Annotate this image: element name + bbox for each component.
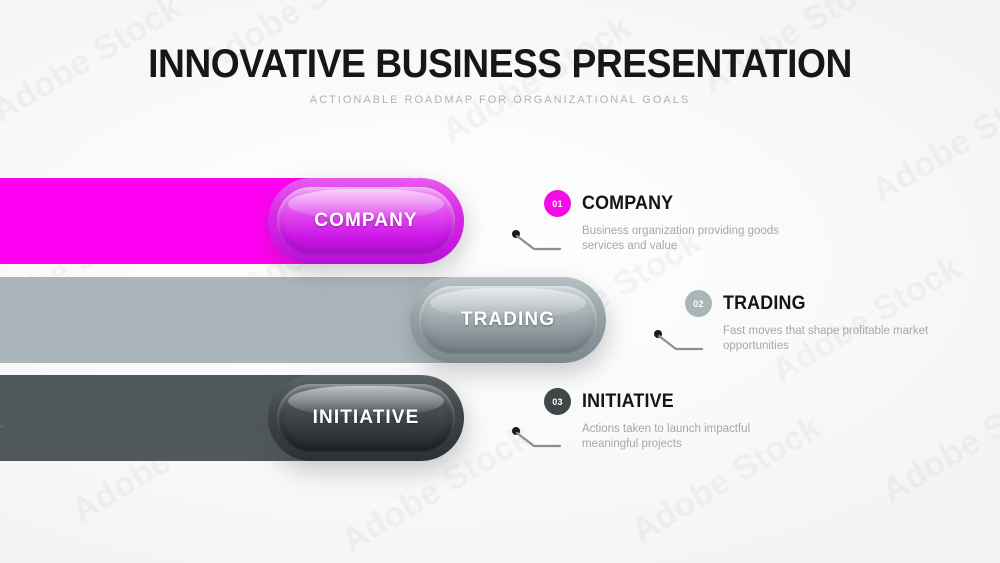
info-head-2: 02 TRADING	[685, 290, 933, 317]
info-block-company: 01 COMPANY Business organization providi…	[544, 190, 792, 254]
pill-button-initiative[interactable]: INITIATIVE	[268, 375, 464, 461]
info-title-initiative: INITIATIVE	[582, 391, 674, 413]
roadmap-row-1: COMPANY	[0, 178, 1000, 264]
page-subtitle: ACTIONABLE ROADMAP FOR ORGANIZATIONAL GO…	[0, 94, 1000, 106]
info-block-trading: 02 TRADING Fast moves that shape profita…	[685, 290, 933, 354]
infographic-canvas: Adobe Stock Adobe Stock Adobe Stock Adob…	[0, 0, 1000, 563]
info-desc-company: Business organization providing goods se…	[582, 224, 792, 254]
pill-button-company[interactable]: COMPANY	[268, 178, 464, 264]
pill-label-trading: TRADING	[461, 309, 555, 331]
info-desc-trading: Fast moves that shape profitable market …	[723, 324, 933, 354]
roadmap-row-3: INITIATIVE	[0, 375, 1000, 461]
info-head-3: 03 INITIATIVE	[544, 388, 792, 415]
info-title-company: COMPANY	[582, 193, 673, 215]
pill-label-initiative: INITIATIVE	[313, 407, 420, 429]
stock-watermark-label: Adobe Stock | #1942610187	[0, 300, 6, 553]
header: INNOVATIVE BUSINESS PRESENTATION ACTIONA…	[0, 42, 1000, 106]
info-title-trading: TRADING	[723, 293, 806, 315]
badge-number-01: 01	[544, 190, 571, 217]
page-title: INNOVATIVE BUSINESS PRESENTATION	[35, 42, 965, 86]
badge-number-03: 03	[544, 388, 571, 415]
info-block-initiative: 03 INITIATIVE Actions taken to launch im…	[544, 388, 792, 452]
info-desc-initiative: Actions taken to launch impactful meanin…	[582, 422, 792, 452]
badge-number-02: 02	[685, 290, 712, 317]
pill-label-company: COMPANY	[314, 210, 417, 232]
pill-button-trading[interactable]: TRADING	[410, 277, 606, 363]
info-head-1: 01 COMPANY	[544, 190, 792, 217]
